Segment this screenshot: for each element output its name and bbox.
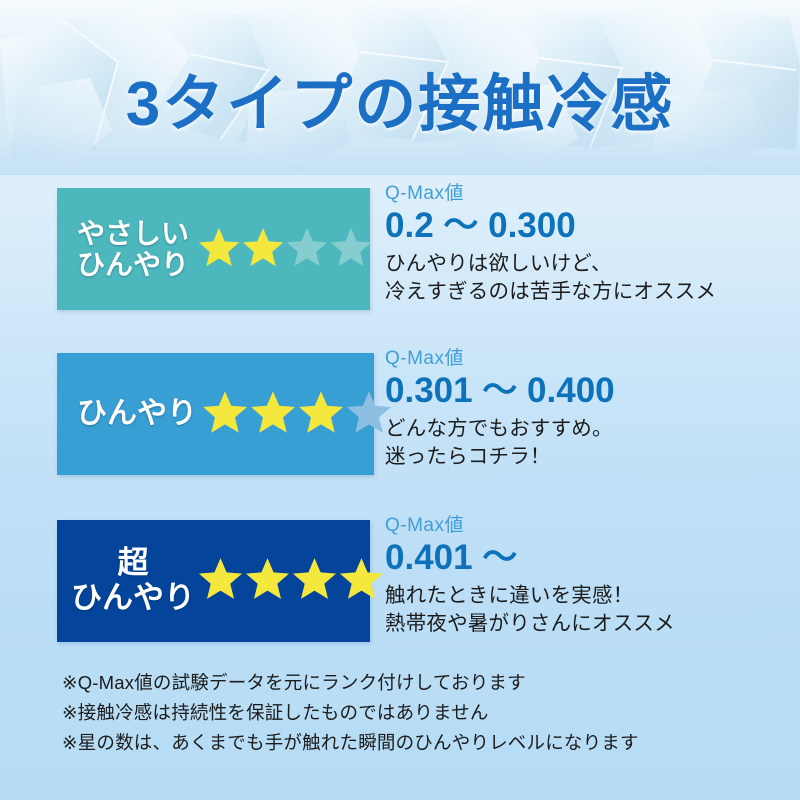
panel-label-line: 超	[69, 546, 197, 581]
qmax-label: Q-Max値	[385, 516, 795, 537]
description-line: 熱帯夜や暑がりさんにオススメ	[385, 610, 795, 638]
panel-label-line: ひんやり	[69, 249, 197, 280]
level-details: Q-Max値0.401 〜触れたときに違いを実感！熱帯夜や暑がりさんにオススメ	[385, 516, 795, 639]
star-filled-icon	[291, 555, 338, 607]
level-description: 触れたときに違いを実感！熱帯夜や暑がりさんにオススメ	[385, 582, 795, 639]
level-name: 超ひんやり	[69, 546, 197, 615]
star-filled-icon	[197, 555, 244, 607]
level-description: ひんやりは欲しいけど、冷えすぎるのは苦手な方にオススメ	[385, 250, 795, 307]
star-rating	[197, 225, 373, 274]
qmax-range-value: 0.401 〜	[385, 538, 795, 577]
star-filled-icon	[249, 388, 297, 441]
star-rating	[201, 388, 393, 441]
panel-label-line: やさしい	[69, 218, 197, 249]
level-panel: やさしいひんやり	[57, 188, 370, 310]
level-name: ひんやり	[73, 397, 201, 431]
level-details: Q-Max値0.301 〜 0.400どんな方でもおすすめ。迷ったらコチラ！	[385, 349, 795, 472]
panel-label-line: ひんやり	[73, 397, 201, 431]
footnote-line: ※接触冷感は持続性を保証したものではありません	[62, 698, 762, 728]
cooling-level-row: やさしいひんやりQ-Max値0.2 〜 0.300ひんやりは欲しいけど、冷えすぎ…	[0, 180, 800, 320]
cooling-level-row: ひんやりQ-Max値0.301 〜 0.400どんな方でもおすすめ。迷ったらコチ…	[0, 345, 800, 485]
panel-label-line: ひんやり	[69, 581, 197, 616]
star-filled-icon	[241, 225, 285, 274]
qmax-range-value: 0.2 〜 0.300	[385, 206, 795, 245]
footnotes: ※Q-Max値の試験データを元にランク付けしております※接触冷感は持続性を保証し…	[62, 668, 762, 758]
level-details: Q-Max値0.2 〜 0.300ひんやりは欲しいけど、冷えすぎるのは苦手な方に…	[385, 184, 795, 307]
star-filled-icon	[197, 225, 241, 274]
star-filled-icon	[297, 388, 345, 441]
star-empty-icon	[285, 225, 329, 274]
qmax-label: Q-Max値	[385, 349, 795, 370]
infographic-page: 3タイプの接触冷感 やさしいひんやりQ-Max値0.2 〜 0.300ひんやりは…	[0, 0, 800, 800]
description-line: ひんやりは欲しいけど、	[385, 250, 795, 278]
star-filled-icon	[201, 388, 249, 441]
description-line: 迷ったらコチラ！	[385, 443, 795, 471]
cooling-level-row: 超ひんやりQ-Max値0.401 〜触れたときに違いを実感！熱帯夜や暑がりさんに…	[0, 512, 800, 652]
level-panel: ひんやり	[57, 353, 374, 475]
level-description: どんな方でもおすすめ。迷ったらコチラ！	[385, 415, 795, 472]
level-name: やさしいひんやり	[69, 218, 197, 281]
qmax-range-value: 0.301 〜 0.400	[385, 371, 795, 410]
description-line: どんな方でもおすすめ。	[385, 415, 795, 443]
description-line: 冷えすぎるのは苦手な方にオススメ	[385, 278, 795, 306]
footnote-line: ※Q-Max値の試験データを元にランク付けしております	[62, 668, 762, 698]
footnote-line: ※星の数は、あくまでも手が触れた瞬間のひんやりレベルになります	[62, 728, 762, 758]
qmax-label: Q-Max値	[385, 184, 795, 205]
page-title: 3タイプの接触冷感	[0, 53, 800, 143]
level-panel: 超ひんやり	[57, 520, 370, 642]
star-filled-icon	[244, 555, 291, 607]
description-line: 触れたときに違いを実感！	[385, 582, 795, 610]
star-rating	[197, 555, 385, 607]
star-filled-icon	[338, 555, 385, 607]
star-empty-icon	[329, 225, 373, 274]
